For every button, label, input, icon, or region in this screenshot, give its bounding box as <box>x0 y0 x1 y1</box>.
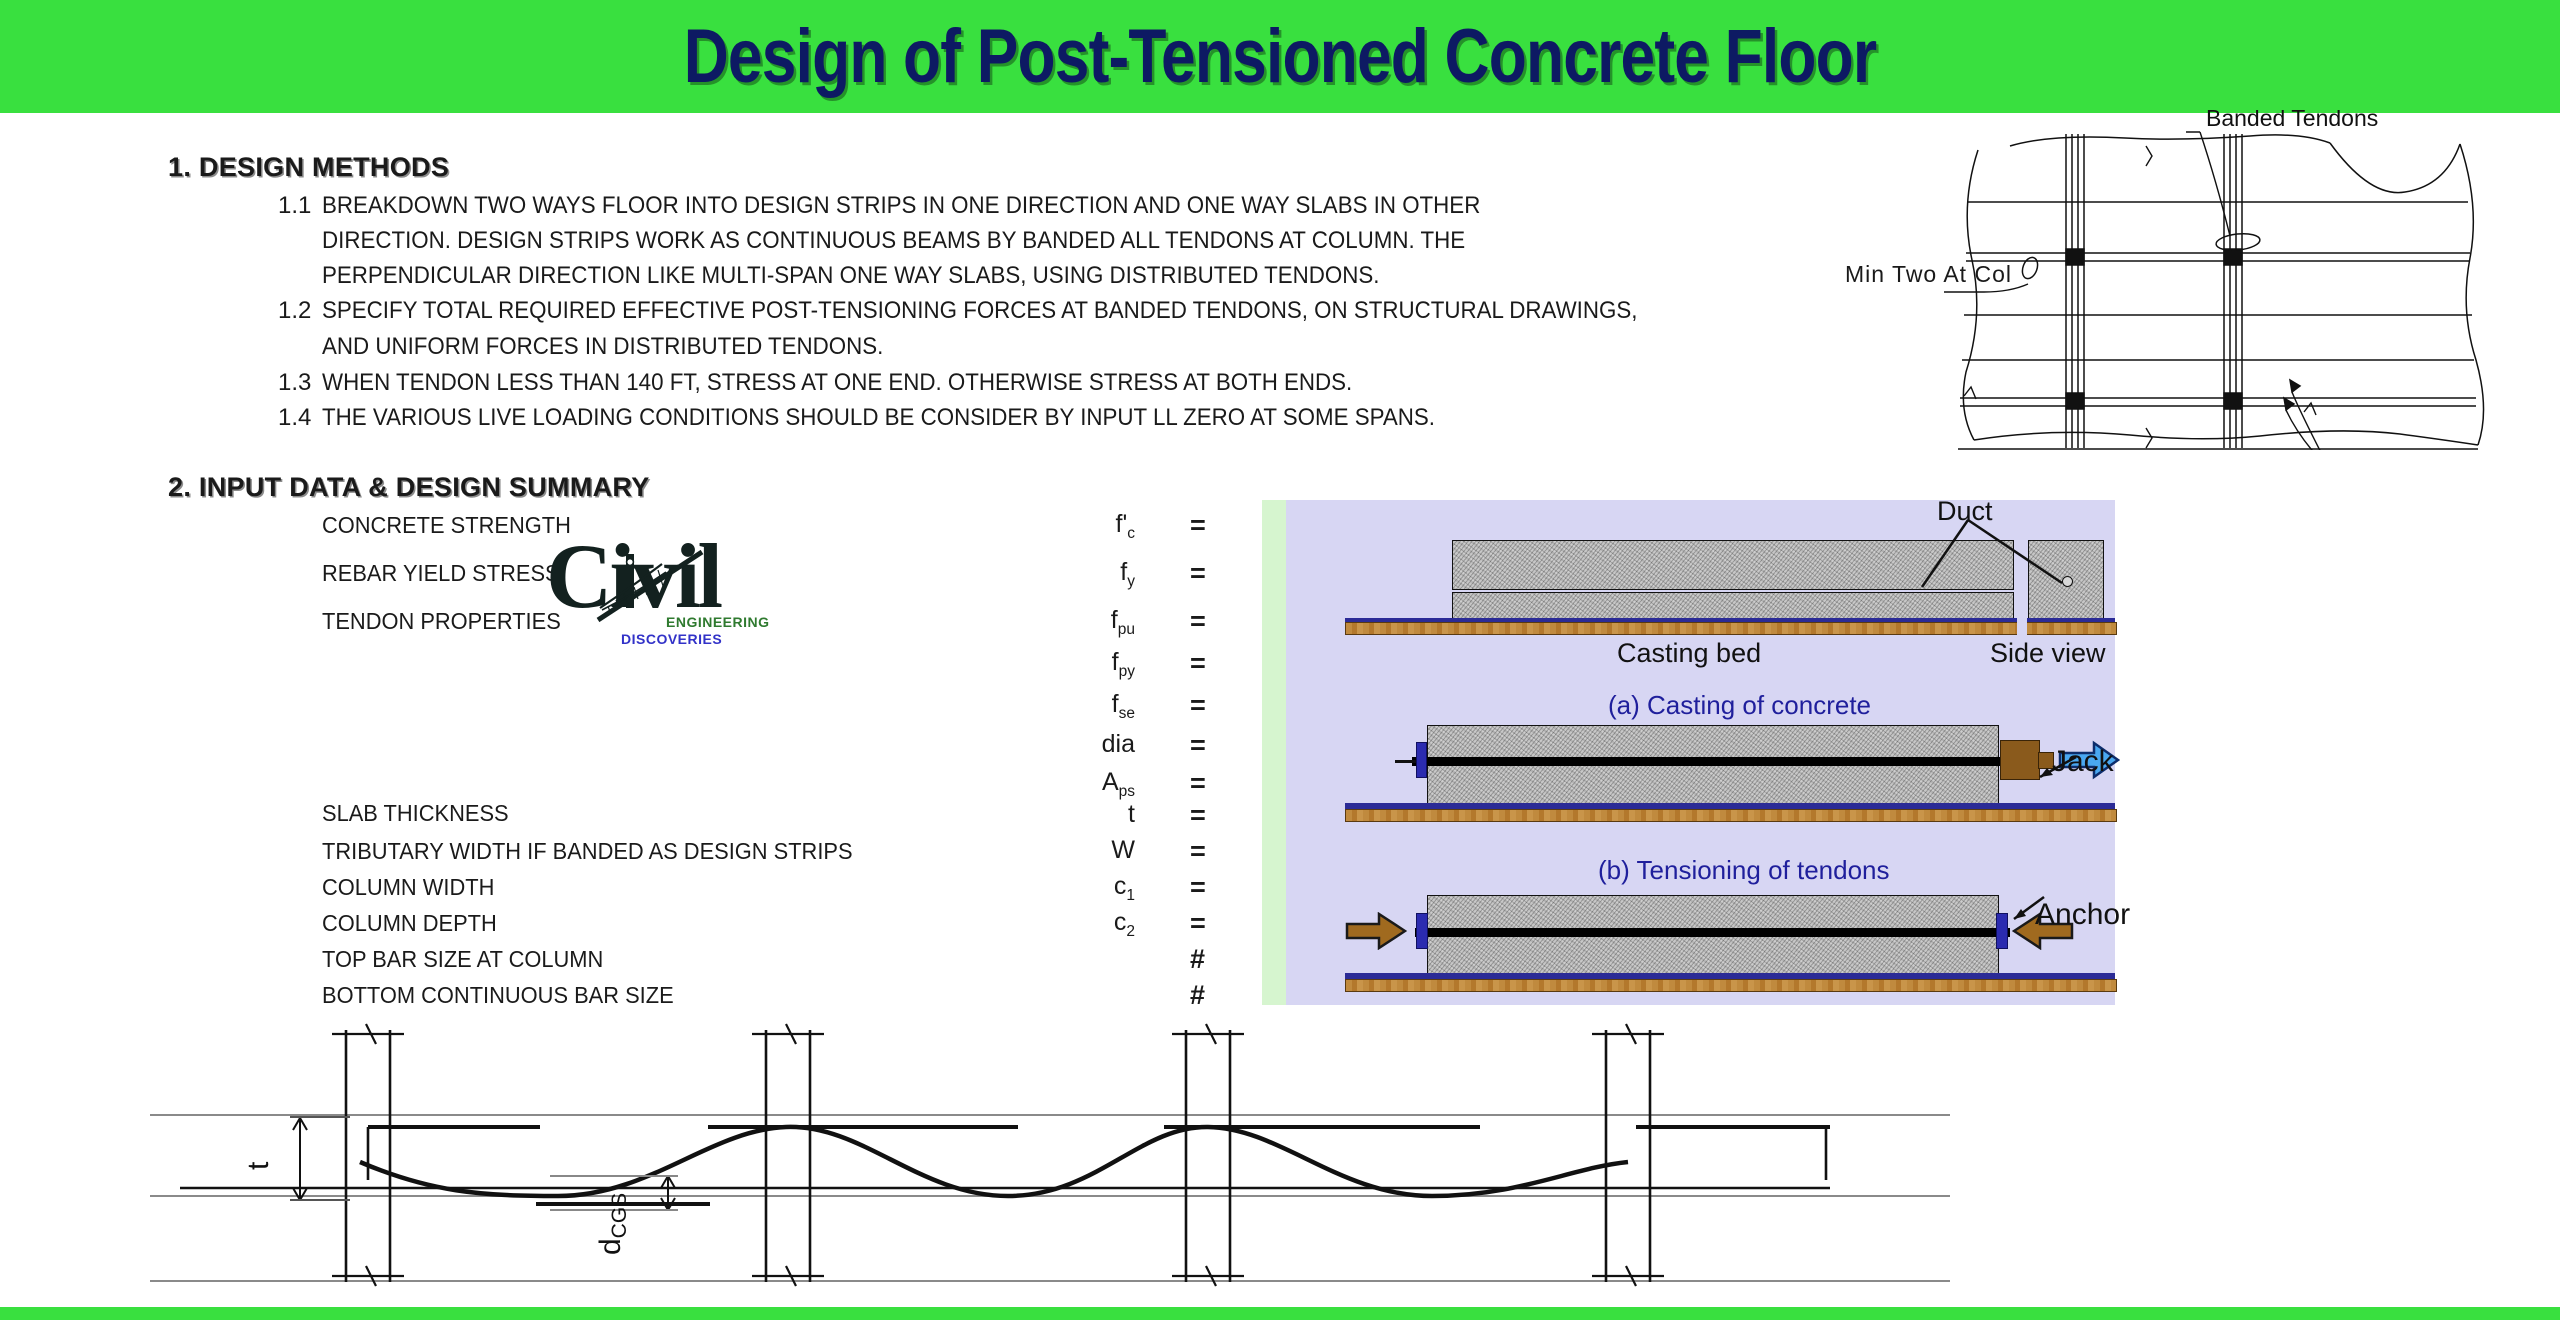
input-label: TENDON PROPERTIES <box>322 608 561 635</box>
anchor-plate-left-c <box>1416 913 1428 949</box>
input-label: COLUMN DEPTH <box>322 910 497 937</box>
logo-discoveries-text: DISCOVERIES <box>621 631 722 647</box>
panel-caption-b: (b) Tensioning of tendons <box>1598 855 1890 886</box>
plan-label-banded-tendons: Banded Tendons <box>2206 110 2378 131</box>
input-symbol: fse <box>1035 690 1135 723</box>
input-operator: = <box>1190 872 1206 903</box>
input-label: SLAB THICKNESS <box>322 800 509 827</box>
list-item-text: SPECIFY TOTAL REQUIRED EFFECTIVE POST-TE… <box>322 297 1637 325</box>
list-item-text: THE VARIOUS LIVE LOADING CONDITIONS SHOU… <box>322 404 1435 432</box>
section-heading-design-methods: 1. DESIGN METHODS <box>168 152 449 183</box>
section-heading-input-data: 2. INPUT DATA & DESIGN SUMMARY <box>168 472 650 503</box>
input-label: CONCRETE STRENGTH <box>322 512 571 539</box>
plan-label-min-two-at-col: Min Two At Col <box>1845 261 2012 288</box>
input-symbol: t <box>1035 800 1135 829</box>
casting-bed-wood-a <box>1345 622 2117 635</box>
panel-label-casting-bed: Casting bed <box>1617 638 1761 669</box>
page-title: Design of Post-Tensioned Concrete Floor <box>230 0 2329 113</box>
input-label: BOTTOM CONTINUOUS BAR SIZE <box>322 982 674 1009</box>
list-item-text: BREAKDOWN TWO WAYS FLOOR INTO DESIGN STR… <box>322 192 1480 220</box>
input-symbol: c2 <box>1035 908 1135 941</box>
page-banner: Design of Post-Tensioned Concrete Floor <box>0 0 2560 113</box>
concrete-slab-top <box>1452 540 2014 590</box>
bed-gap <box>2017 618 2027 636</box>
list-number-1-1: 1.1 <box>278 192 311 220</box>
elevation-dimension-t: t <box>242 1161 275 1170</box>
input-symbol: Aps <box>1035 768 1135 801</box>
tendon-strand-c <box>1415 928 2010 937</box>
input-label: TOP BAR SIZE AT COLUMN <box>322 946 603 973</box>
input-symbol: W <box>1035 836 1135 865</box>
input-operator: = <box>1190 908 1206 939</box>
input-operator: = <box>1190 768 1206 799</box>
panel-label-jack: Jack <box>2052 745 2114 779</box>
input-operator: = <box>1190 730 1206 761</box>
input-symbol: dia <box>1035 730 1135 759</box>
panel-label-duct: Duct <box>1937 496 1993 527</box>
logo-engineering-text: ENGINEERING <box>666 614 770 630</box>
input-symbol: fpy <box>1035 648 1135 681</box>
anchor-force-arrow-left-icon <box>1345 912 1407 950</box>
panel-label-anchor: Anchor <box>2035 898 2130 932</box>
list-number-1-3: 1.3 <box>278 369 311 397</box>
input-operator: = <box>1190 648 1206 679</box>
input-label: REBAR YIELD STRESS <box>322 560 560 587</box>
input-operator: # <box>1190 944 1205 975</box>
input-operator: # <box>1190 980 1205 1011</box>
panel-label-side-view: Side view <box>1990 638 2106 669</box>
tendon-strand-b <box>1412 757 2010 766</box>
input-symbol: c1 <box>1035 872 1135 905</box>
input-operator: = <box>1190 606 1206 637</box>
input-operator: = <box>1190 510 1206 541</box>
input-label: TRIBUTARY WIDTH IF BANDED AS DESIGN STRI… <box>322 838 853 865</box>
panel-caption-a: (a) Casting of concrete <box>1608 690 1871 721</box>
input-label: COLUMN WIDTH <box>322 874 494 901</box>
list-item-text: DIRECTION. DESIGN STRIPS WORK AS CONTINU… <box>322 227 1465 255</box>
panel-edge-strip <box>1262 500 1286 1005</box>
slab-elevation-diagram: t dCGS <box>150 1010 1950 1310</box>
concrete-slab-bottom <box>1452 592 2014 620</box>
input-symbol: f'c <box>1035 510 1135 543</box>
list-item-text: WHEN TENDON LESS THAN 140 FT, STRESS AT … <box>322 369 1352 397</box>
duct-hole-icon <box>2062 576 2073 587</box>
input-symbol: fpu <box>1035 606 1135 639</box>
input-operator: = <box>1190 690 1206 721</box>
input-operator: = <box>1190 836 1206 867</box>
anchor-plate-left-b <box>1416 742 1427 778</box>
list-number-1-2: 1.2 <box>278 297 311 325</box>
list-item-text: PERPENDICULAR DIRECTION LIKE MULTI-SPAN … <box>322 262 1379 290</box>
list-item-text: AND UNIFORM FORCES IN DISTRIBUTED TENDON… <box>322 333 883 361</box>
input-symbol: fy <box>1035 558 1135 591</box>
casting-bed-wood-c <box>1345 979 2117 992</box>
watermark-logo: Civil ENGINEERING DISCOVERIES <box>546 530 761 645</box>
input-operator: = <box>1190 800 1206 831</box>
casting-bed-wood-b <box>1345 809 2117 822</box>
input-operator: = <box>1190 558 1206 589</box>
list-number-1-4: 1.4 <box>278 404 311 432</box>
